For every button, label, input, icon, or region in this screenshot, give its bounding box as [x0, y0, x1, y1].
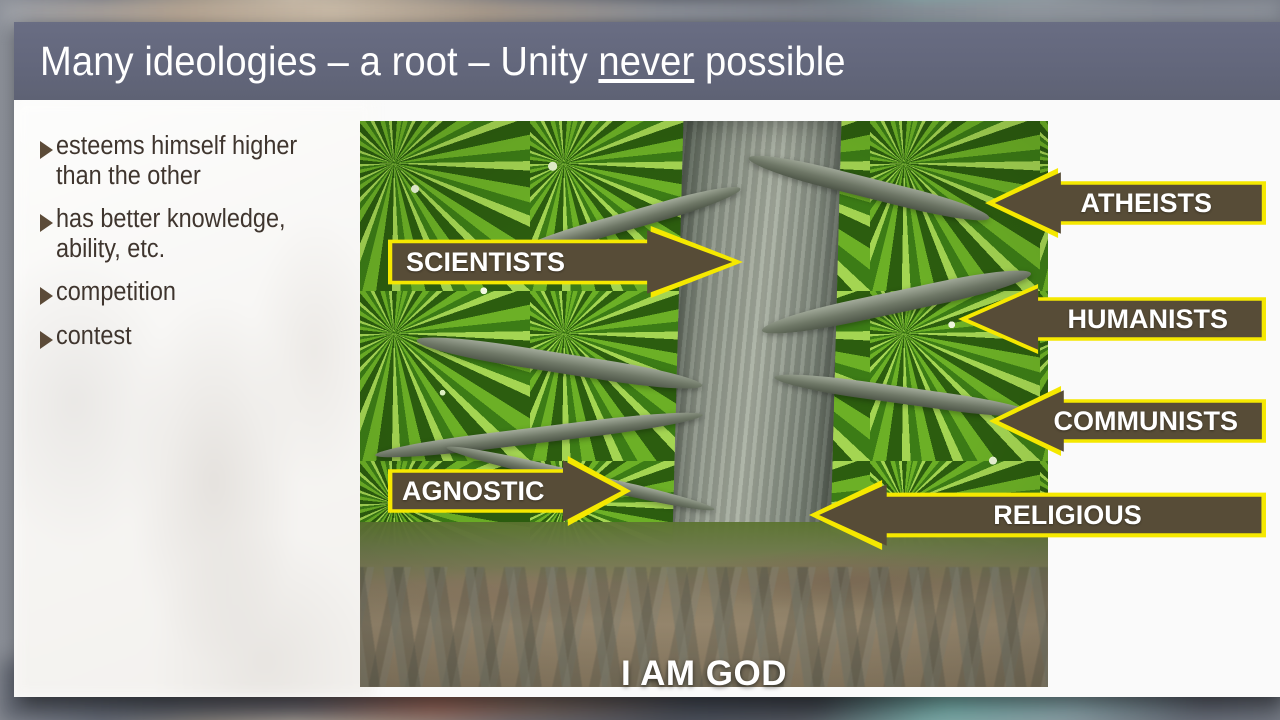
arrow-fill — [388, 456, 631, 526]
callout-arrow-atheists: ATHEISTS — [985, 168, 1266, 238]
arrow-fill — [985, 168, 1266, 238]
tree-photo — [360, 121, 1048, 687]
callout-arrow-agnostic: AGNOSTIC — [388, 456, 631, 526]
list-item-label: contest — [56, 322, 345, 352]
triangle-bullet-icon — [40, 287, 53, 305]
list-item-label: has better knowledge, ability, etc. — [56, 205, 345, 264]
arrow-fill — [388, 226, 743, 298]
list-item: competition — [40, 278, 370, 308]
callout-arrow-communists: COMMUNISTS — [989, 386, 1266, 456]
list-item: has better knowledge, ability, etc. — [40, 205, 370, 264]
arrow-fill — [809, 480, 1266, 550]
callout-arrow-humanists: HUMANISTS — [958, 284, 1266, 354]
list-item-label: esteems himself higher than the other — [56, 132, 345, 191]
callout-arrow-scientists: SCIENTISTS — [388, 226, 743, 298]
presentation-slide: Many ideologies – a root – Unity never p… — [14, 22, 1280, 697]
title-prefix: Many ideologies – a root – Unity — [40, 38, 598, 84]
bullet-list: esteems himself higher than the other ha… — [40, 132, 370, 365]
arrow-fill — [989, 386, 1266, 456]
title-suffix: possible — [694, 38, 845, 84]
triangle-bullet-icon — [40, 331, 53, 349]
triangle-bullet-icon — [40, 141, 53, 159]
slide-title-bar: Many ideologies – a root – Unity never p… — [14, 22, 1280, 100]
list-item: esteems himself higher than the other — [40, 132, 370, 191]
list-item: contest — [40, 322, 370, 352]
arrow-fill — [958, 284, 1266, 354]
photo-caption: I AM GOD — [360, 654, 1048, 694]
page-title: Many ideologies – a root – Unity never p… — [14, 38, 846, 85]
triangle-bullet-icon — [40, 214, 53, 232]
callout-arrow-religious: RELIGIOUS — [809, 480, 1266, 550]
title-emphasis-never: never — [598, 38, 694, 84]
list-item-label: competition — [56, 278, 345, 308]
